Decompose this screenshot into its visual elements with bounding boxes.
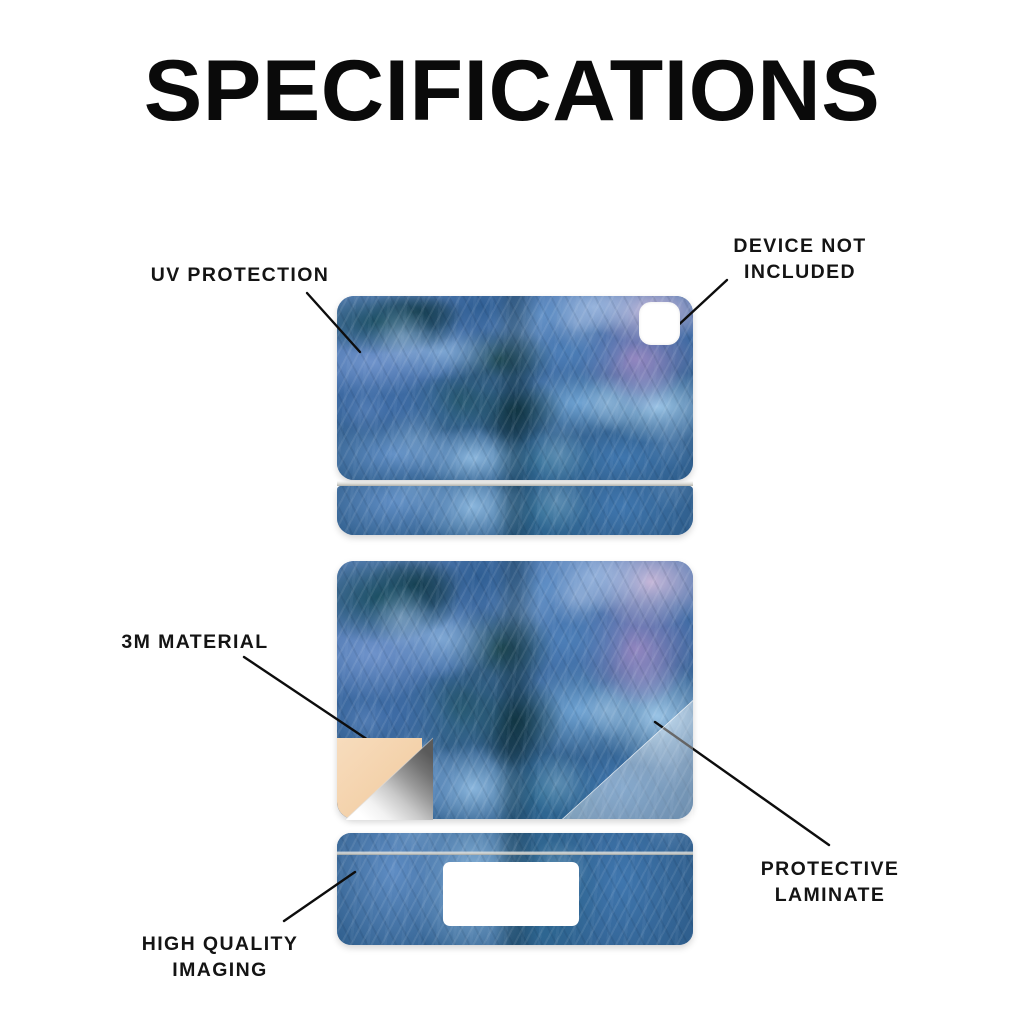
page-title: SPECIFICATIONS <box>0 48 1024 134</box>
callout-label-device-not-included: DEVICE NOT INCLUDED <box>700 234 900 285</box>
screen-cutout <box>443 862 579 926</box>
panel-divider-bottom <box>337 851 693 855</box>
peel-flap <box>337 730 433 820</box>
callout-label-protective-laminate: PROTECTIVE LAMINATE <box>730 857 930 908</box>
callout-label-3m-material: 3M MATERIAL <box>100 630 290 656</box>
callout-label-uv-protection: UV PROTECTION <box>140 263 340 289</box>
skin-piece-top-strip <box>337 486 693 535</box>
callout-label-high-quality-imaging: HIGH QUALITY IMAGING <box>115 932 325 983</box>
artwork-stroke-layer <box>337 486 693 535</box>
camera-cutout <box>639 302 680 345</box>
panel-divider-top <box>337 481 693 486</box>
